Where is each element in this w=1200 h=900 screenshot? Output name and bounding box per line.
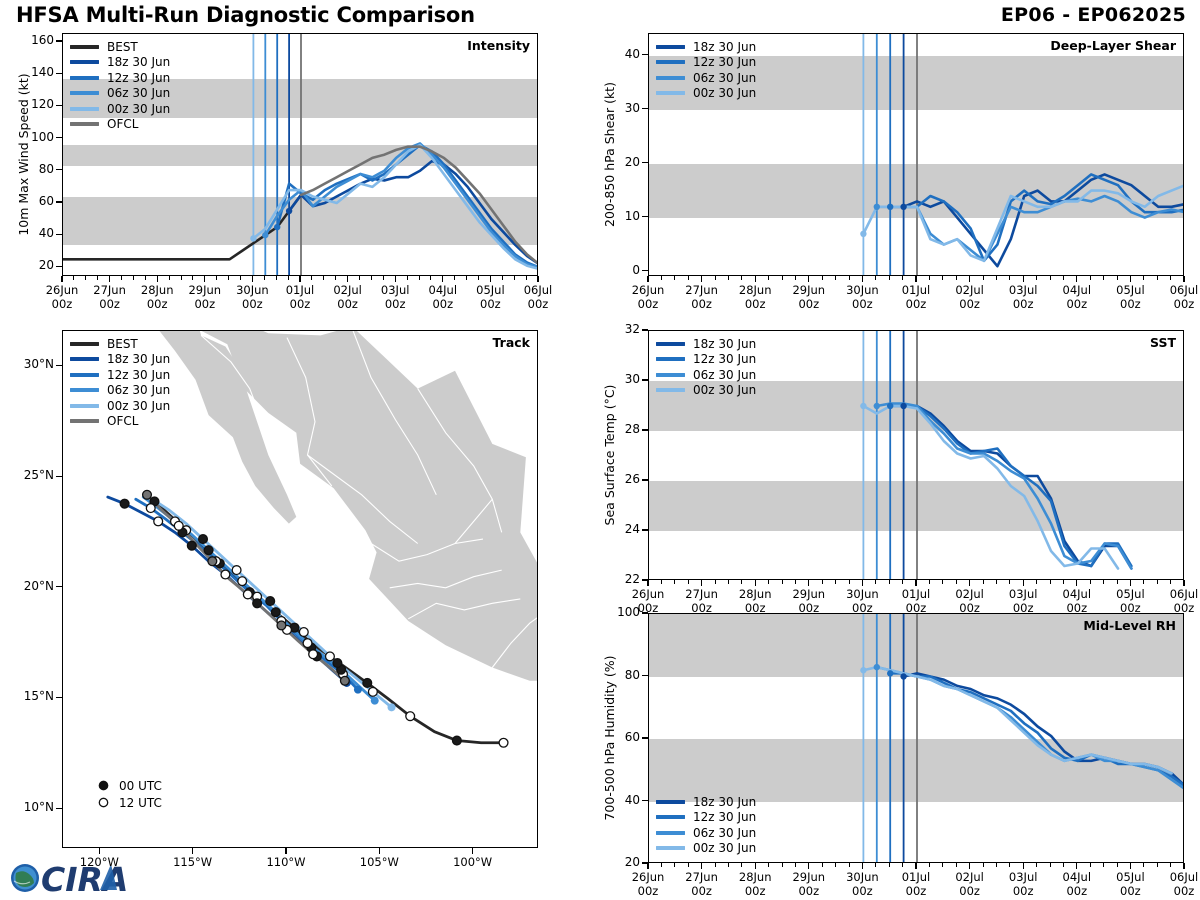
intensity-legend: BEST18z 30 Jun12z 30 Jun06z 30 Jun00z 30… xyxy=(70,39,170,132)
track-y-tick-label: 20°N xyxy=(12,579,54,593)
track-start-marker xyxy=(354,686,362,694)
axis-tick xyxy=(56,40,62,41)
axis-minor-tick xyxy=(849,276,850,280)
track-marker-12utc xyxy=(326,652,335,661)
y-axis-tick-label: 40 xyxy=(602,47,640,61)
axis-tick xyxy=(157,276,158,282)
axis-minor-tick xyxy=(1157,276,1158,280)
track-marker-00utc xyxy=(143,490,152,499)
axis-minor-tick xyxy=(728,863,729,867)
axis-tick xyxy=(56,105,62,106)
axis-tick xyxy=(56,234,62,235)
shear-panel: Deep-Layer Shear 18z 30 Jun12z 30 Jun06z… xyxy=(648,33,1184,276)
legend-item: 18z 30 Jun xyxy=(656,336,756,352)
axis-tick xyxy=(701,580,702,586)
axis-minor-tick xyxy=(1090,863,1091,867)
axis-tick xyxy=(647,276,648,282)
legend-color-swatch xyxy=(70,419,99,423)
legend-item: 06z 30 Jun xyxy=(656,70,756,86)
x-axis-tick-label: 06Jul00z xyxy=(504,283,572,311)
legend-color-swatch xyxy=(70,60,99,64)
axis-minor-tick xyxy=(849,580,850,584)
y-axis-tick-label: 160 xyxy=(16,33,54,47)
axis-minor-tick xyxy=(715,276,716,280)
axis-minor-tick xyxy=(674,580,675,584)
axis-minor-tick xyxy=(419,276,420,280)
axis-minor-tick xyxy=(1050,580,1051,584)
marker-legend-item: 00 UTC xyxy=(97,777,162,794)
axis-minor-tick xyxy=(741,863,742,867)
series-start-marker xyxy=(262,232,268,238)
series-start-marker xyxy=(874,403,880,409)
shear-panel-label: Deep-Layer Shear xyxy=(1050,38,1176,53)
legend-item: 18z 30 Jun xyxy=(70,55,170,71)
sst-panel-label: SST xyxy=(1150,335,1176,350)
axis-tick xyxy=(56,365,62,366)
series-start-marker xyxy=(887,204,893,210)
axis-minor-tick xyxy=(1170,863,1171,867)
axis-minor-tick xyxy=(822,276,823,280)
axis-minor-tick xyxy=(454,276,455,280)
axis-minor-tick xyxy=(276,276,277,280)
y-axis-tick-label: 28 xyxy=(602,422,640,436)
axis-tick xyxy=(1076,580,1077,586)
legend-color-swatch xyxy=(70,342,99,346)
axis-tick xyxy=(1183,863,1184,869)
axis-tick xyxy=(1023,863,1024,869)
legend-color-swatch xyxy=(656,76,685,80)
axis-tick xyxy=(472,848,473,854)
series-line xyxy=(904,174,1184,266)
axis-tick xyxy=(642,737,648,738)
figure-title: HFSA Multi-Run Diagnostic Comparison xyxy=(16,3,475,27)
axis-minor-tick xyxy=(1063,863,1064,867)
marker-legend-label: 12 UTC xyxy=(119,797,162,809)
axis-minor-tick xyxy=(1063,276,1064,280)
y-axis-tick-label: 20 xyxy=(602,855,640,869)
open-circle-icon xyxy=(97,796,110,809)
axis-minor-tick xyxy=(983,276,984,280)
series-line xyxy=(904,673,1184,786)
series-start-marker xyxy=(900,204,906,210)
legend-label: BEST xyxy=(107,338,138,350)
axis-minor-tick xyxy=(1090,276,1091,280)
legend-label: 00z 30 Jun xyxy=(693,87,756,99)
track-panel: Track BEST18z 30 Jun12z 30 Jun06z 30 Jun… xyxy=(62,330,538,848)
legend-label: 12z 30 Jun xyxy=(107,72,170,84)
axis-minor-tick xyxy=(929,276,930,280)
track-marker-00utc xyxy=(340,676,349,685)
axis-minor-tick xyxy=(782,580,783,584)
axis-minor-tick xyxy=(768,580,769,584)
axis-tick xyxy=(1023,276,1024,282)
axis-tick xyxy=(808,276,809,282)
marker-legend-item: 12 UTC xyxy=(97,794,162,811)
axis-tick xyxy=(285,848,286,854)
track-x-tick-label: 110°W xyxy=(252,855,320,869)
axis-minor-tick xyxy=(181,276,182,280)
series-start-marker xyxy=(250,235,256,241)
axis-tick xyxy=(915,863,916,869)
legend-label: BEST xyxy=(107,41,138,53)
legend-label: 12z 30 Jun xyxy=(693,811,756,823)
series-line xyxy=(904,406,1132,569)
series-start-marker xyxy=(900,403,906,409)
axis-minor-tick xyxy=(514,276,515,280)
axis-minor-tick xyxy=(371,276,372,280)
axis-minor-tick xyxy=(1117,276,1118,280)
track-marker-00utc xyxy=(266,597,275,606)
rh-legend: 18z 30 Jun12z 30 Jun06z 30 Jun00z 30 Jun xyxy=(656,794,756,856)
axis-minor-tick xyxy=(1170,276,1171,280)
axis-tick xyxy=(862,580,863,586)
legend-label: 18z 30 Jun xyxy=(693,796,756,808)
legend-label: 18z 30 Jun xyxy=(107,353,170,365)
axis-tick xyxy=(1076,863,1077,869)
axis-minor-tick xyxy=(383,276,384,280)
shear-legend: 18z 30 Jun12z 30 Jun06z 30 Jun00z 30 Jun xyxy=(656,39,756,101)
axis-tick xyxy=(56,137,62,138)
axis-minor-tick xyxy=(741,276,742,280)
axis-minor-tick xyxy=(335,276,336,280)
axis-tick xyxy=(1130,863,1131,869)
rh-panel-label: Mid-Level RH xyxy=(1083,618,1176,633)
axis-tick xyxy=(1183,276,1184,282)
track-y-tick-label: 30°N xyxy=(12,357,54,371)
legend-color-swatch xyxy=(656,45,685,49)
y-axis-tick-label: 40 xyxy=(602,793,640,807)
sst-panel: SST 18z 30 Jun12z 30 Jun06z 30 Jun00z 30… xyxy=(648,330,1184,580)
intensity-panel: Intensity BEST18z 30 Jun12z 30 Jun06z 30… xyxy=(62,33,538,276)
legend-label: 18z 30 Jun xyxy=(693,338,756,350)
track-marker-00utc xyxy=(187,541,196,550)
axis-tick xyxy=(204,276,205,282)
axis-tick xyxy=(642,108,648,109)
legend-color-swatch xyxy=(70,357,99,361)
axis-tick xyxy=(299,276,300,282)
axis-minor-tick xyxy=(169,276,170,280)
track-marker-00utc xyxy=(253,599,262,608)
legend-item: 18z 30 Jun xyxy=(70,352,170,368)
axis-tick xyxy=(192,848,193,854)
axis-minor-tick xyxy=(661,863,662,867)
track-marker-12utc xyxy=(368,687,377,696)
axis-tick xyxy=(701,276,702,282)
track-y-tick-label: 25°N xyxy=(12,468,54,482)
axis-minor-tick xyxy=(1143,863,1144,867)
axis-minor-tick xyxy=(875,276,876,280)
axis-minor-tick xyxy=(73,276,74,280)
axis-minor-tick xyxy=(795,276,796,280)
marker-legend-label: 00 UTC xyxy=(119,780,162,792)
track-marker-00utc xyxy=(452,736,461,745)
axis-minor-tick xyxy=(478,276,479,280)
track-marker-12utc xyxy=(299,628,308,637)
axis-tick xyxy=(642,162,648,163)
axis-tick xyxy=(642,54,648,55)
track-legend: BEST18z 30 Jun12z 30 Jun06z 30 Jun00z 30… xyxy=(70,336,170,429)
axis-minor-tick xyxy=(359,276,360,280)
legend-item: 06z 30 Jun xyxy=(656,367,756,383)
track-start-marker xyxy=(371,697,379,705)
axis-tick xyxy=(647,863,648,869)
axis-minor-tick xyxy=(1117,863,1118,867)
axis-minor-tick xyxy=(661,580,662,584)
axis-minor-tick xyxy=(835,580,836,584)
axis-tick xyxy=(642,529,648,530)
legend-label: 18z 30 Jun xyxy=(107,56,170,68)
filled-circle-icon xyxy=(97,779,110,792)
track-panel-label: Track xyxy=(493,335,530,350)
legend-item: 00z 30 Jun xyxy=(656,383,756,399)
series-start-marker xyxy=(274,224,280,230)
axis-minor-tick xyxy=(889,276,890,280)
series-start-marker xyxy=(860,403,866,409)
legend-color-swatch xyxy=(70,373,99,377)
axis-minor-tick xyxy=(1143,580,1144,584)
x-axis-tick-label: 06Jul00z xyxy=(1150,870,1200,898)
axis-minor-tick xyxy=(688,863,689,867)
axis-tick xyxy=(969,580,970,586)
legend-color-swatch xyxy=(70,404,99,408)
axis-minor-tick xyxy=(1050,276,1051,280)
axis-tick xyxy=(1076,276,1077,282)
legend-item: 12z 30 Jun xyxy=(656,352,756,368)
legend-item: BEST xyxy=(70,39,170,55)
axis-minor-tick xyxy=(1170,580,1171,584)
track-marker-legend: 00 UTC12 UTC xyxy=(97,777,162,811)
axis-tick xyxy=(109,276,110,282)
series-start-marker xyxy=(887,403,893,409)
axis-minor-tick xyxy=(902,276,903,280)
legend-label: 00z 30 Jun xyxy=(693,384,756,396)
legend-color-swatch xyxy=(656,373,685,377)
axis-tick xyxy=(862,276,863,282)
series-start-marker xyxy=(286,208,292,214)
y-axis-tick-label: 30 xyxy=(602,101,640,115)
track-marker-12utc xyxy=(406,712,415,721)
axis-tick xyxy=(56,169,62,170)
legend-label: 12z 30 Jun xyxy=(693,56,756,68)
axis-tick xyxy=(61,276,62,282)
axis-minor-tick xyxy=(1090,580,1091,584)
axis-minor-tick xyxy=(849,863,850,867)
legend-color-swatch xyxy=(70,107,99,111)
axis-minor-tick xyxy=(1009,580,1010,584)
axis-minor-tick xyxy=(929,580,930,584)
axis-minor-tick xyxy=(323,276,324,280)
legend-label: 00z 30 Jun xyxy=(107,103,170,115)
series-line xyxy=(265,143,538,267)
axis-minor-tick xyxy=(1103,580,1104,584)
track-marker-12utc xyxy=(309,650,318,659)
series-start-marker xyxy=(874,204,880,210)
y-axis-tick-label: 22 xyxy=(602,572,640,586)
legend-item: 00z 30 Jun xyxy=(70,101,170,117)
axis-tick xyxy=(642,329,648,330)
legend-label: OFCL xyxy=(107,118,138,130)
axis-minor-tick xyxy=(795,580,796,584)
axis-minor-tick xyxy=(983,863,984,867)
x-axis-tick-label: 06Jul00z xyxy=(1150,587,1200,615)
axis-tick xyxy=(252,276,253,282)
track-marker-12utc xyxy=(499,738,508,747)
track-marker-12utc xyxy=(174,521,183,530)
axis-minor-tick xyxy=(1157,863,1158,867)
axis-minor-tick xyxy=(674,276,675,280)
axis-minor-tick xyxy=(835,276,836,280)
series-line xyxy=(877,404,1132,569)
axis-tick xyxy=(1023,580,1024,586)
legend-item: 00z 30 Jun xyxy=(70,398,170,414)
figure-root: HFSA Multi-Run Diagnostic Comparison EP0… xyxy=(0,0,1200,900)
sst-legend: 18z 30 Jun12z 30 Jun06z 30 Jun00z 30 Jun xyxy=(656,336,756,398)
axis-tick xyxy=(99,848,100,854)
axis-minor-tick xyxy=(1117,580,1118,584)
track-marker-00utc xyxy=(363,679,372,688)
track-marker-12utc xyxy=(303,639,312,648)
axis-tick xyxy=(969,863,970,869)
y-axis-tick-label: 26 xyxy=(602,472,640,486)
track-marker-12utc xyxy=(146,504,155,513)
axis-tick xyxy=(1130,580,1131,586)
axis-minor-tick xyxy=(983,580,984,584)
legend-color-swatch xyxy=(656,831,685,835)
rh-panel: Mid-Level RH 18z 30 Jun12z 30 Jun06z 30 … xyxy=(648,613,1184,863)
axis-tick xyxy=(379,848,380,854)
axis-minor-tick xyxy=(288,276,289,280)
axis-minor-tick xyxy=(996,863,997,867)
axis-minor-tick xyxy=(1036,580,1037,584)
legend-label: 06z 30 Jun xyxy=(107,87,170,99)
axis-minor-tick xyxy=(145,276,146,280)
axis-minor-tick xyxy=(216,276,217,280)
legend-color-swatch xyxy=(656,342,685,346)
axis-tick xyxy=(490,276,491,282)
axis-minor-tick xyxy=(1009,863,1010,867)
axis-tick xyxy=(56,73,62,74)
track-marker-12utc xyxy=(243,590,252,599)
axis-tick xyxy=(647,580,648,586)
legend-item: 00z 30 Jun xyxy=(656,86,756,102)
track-marker-12utc xyxy=(221,570,230,579)
track-x-tick-label: 115°W xyxy=(159,855,227,869)
axis-minor-tick xyxy=(728,276,729,280)
axis-minor-tick xyxy=(942,276,943,280)
axis-minor-tick xyxy=(942,863,943,867)
legend-label: 12z 30 Jun xyxy=(107,369,170,381)
legend-item: 06z 30 Jun xyxy=(70,383,170,399)
axis-minor-tick xyxy=(430,276,431,280)
y-axis-tick-label: 24 xyxy=(602,522,640,536)
legend-item: 12z 30 Jun xyxy=(70,367,170,383)
axis-minor-tick xyxy=(1143,276,1144,280)
x-axis-tick-label: 06Jul00z xyxy=(1150,283,1200,311)
legend-color-swatch xyxy=(656,846,685,850)
y-axis-tick-label: 0 xyxy=(602,263,640,277)
track-marker-00utc xyxy=(199,535,208,544)
track-x-tick-label: 105°W xyxy=(345,855,413,869)
legend-label: 00z 30 Jun xyxy=(693,842,756,854)
axis-minor-tick xyxy=(1036,276,1037,280)
axis-minor-tick xyxy=(956,580,957,584)
series-line xyxy=(289,161,538,264)
legend-color-swatch xyxy=(70,45,99,49)
legend-item: 18z 30 Jun xyxy=(656,39,756,55)
axis-minor-tick xyxy=(715,580,716,584)
axis-minor-tick xyxy=(741,580,742,584)
legend-label: OFCL xyxy=(107,415,138,427)
y-axis-tick-label: 140 xyxy=(16,65,54,79)
axis-minor-tick xyxy=(835,863,836,867)
legend-label: 12z 30 Jun xyxy=(693,353,756,365)
track-x-tick-label: 120°W xyxy=(65,855,133,869)
axis-tick xyxy=(56,201,62,202)
axis-minor-tick xyxy=(502,276,503,280)
series-start-marker xyxy=(887,670,893,676)
axis-minor-tick xyxy=(85,276,86,280)
axis-tick xyxy=(755,276,756,282)
legend-color-swatch xyxy=(70,388,99,392)
axis-minor-tick xyxy=(1009,276,1010,280)
series-line xyxy=(890,673,1184,786)
axis-minor-tick xyxy=(407,276,408,280)
axis-minor-tick xyxy=(795,863,796,867)
axis-minor-tick xyxy=(1063,580,1064,584)
track-marker-00utc xyxy=(208,557,217,566)
axis-tick xyxy=(862,863,863,869)
axis-minor-tick xyxy=(956,863,957,867)
axis-tick xyxy=(642,429,648,430)
legend-label: 06z 30 Jun xyxy=(693,369,756,381)
legend-color-swatch xyxy=(656,815,685,819)
y-axis-tick-label: 100 xyxy=(602,605,640,619)
axis-tick xyxy=(56,266,62,267)
axis-minor-tick xyxy=(902,863,903,867)
axis-tick xyxy=(642,612,648,613)
axis-minor-tick xyxy=(929,863,930,867)
sst-ylabel: Sea Surface Temp (°C) xyxy=(602,330,617,580)
axis-tick xyxy=(347,276,348,282)
axis-minor-tick xyxy=(956,276,957,280)
axis-minor-tick xyxy=(192,276,193,280)
y-axis-tick-label: 30 xyxy=(602,372,640,386)
axis-minor-tick xyxy=(1050,863,1051,867)
axis-tick xyxy=(442,276,443,282)
legend-label: 06z 30 Jun xyxy=(693,72,756,84)
axis-minor-tick xyxy=(768,863,769,867)
axis-minor-tick xyxy=(715,863,716,867)
track-marker-12utc xyxy=(238,577,247,586)
axis-tick xyxy=(808,580,809,586)
legend-color-swatch xyxy=(70,91,99,95)
axis-minor-tick xyxy=(728,580,729,584)
axis-minor-tick xyxy=(996,276,997,280)
y-axis-tick-label: 40 xyxy=(16,226,54,240)
y-axis-tick-label: 80 xyxy=(602,668,640,682)
axis-minor-tick xyxy=(661,276,662,280)
axis-minor-tick xyxy=(822,580,823,584)
axis-tick xyxy=(915,276,916,282)
axis-minor-tick xyxy=(121,276,122,280)
axis-minor-tick xyxy=(875,863,876,867)
axis-tick xyxy=(642,479,648,480)
axis-minor-tick xyxy=(688,580,689,584)
legend-item: 18z 30 Jun xyxy=(656,794,756,810)
axis-minor-tick xyxy=(902,580,903,584)
track-marker-12utc xyxy=(154,517,163,526)
axis-minor-tick xyxy=(1157,580,1158,584)
